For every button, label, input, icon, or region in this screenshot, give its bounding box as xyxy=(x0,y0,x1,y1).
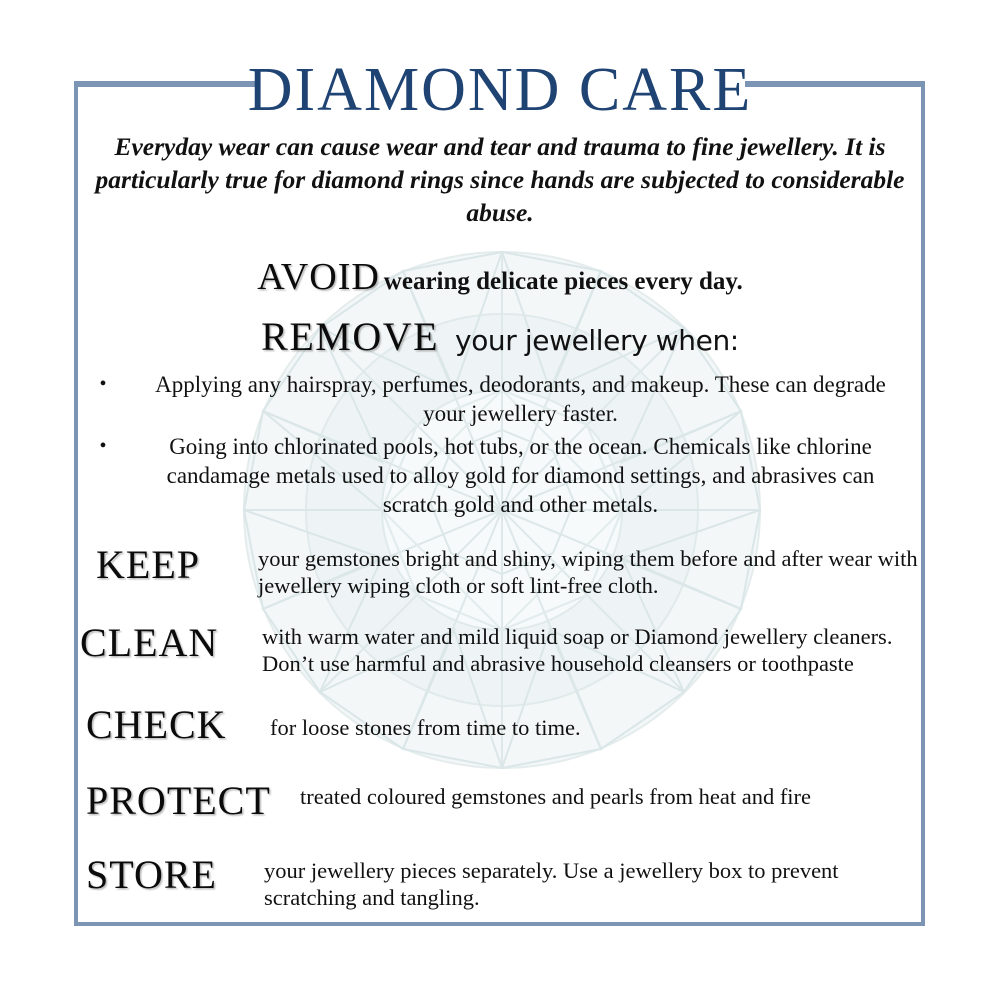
content-area: Everyday wear can cause wear and tear an… xyxy=(78,128,922,911)
keep-section: KEEP your gemstones bright and shiny, wi… xyxy=(78,543,922,599)
intro-paragraph: Everyday wear can cause wear and tear an… xyxy=(78,130,922,229)
frame-bottom-edge xyxy=(74,922,925,926)
store-text: your jewellery pieces separately. Use a … xyxy=(264,853,922,911)
list-item-text: Applying any hairspray, perfumes, deodor… xyxy=(141,370,901,428)
store-keyword: STORE xyxy=(86,853,254,895)
check-keyword: CHECK xyxy=(86,703,258,745)
bullet-icon: • xyxy=(99,432,106,461)
clean-text: with warm water and mild liquid soap or … xyxy=(262,621,922,677)
protect-text: treated coloured gemstones and pearls fr… xyxy=(300,779,922,810)
protect-keyword: PROTECT xyxy=(86,779,292,821)
clean-keyword: CLEAN xyxy=(80,621,262,663)
clean-section: CLEAN with warm water and mild liquid so… xyxy=(78,621,922,677)
avoid-text: wearing delicate pieces every day. xyxy=(384,268,743,295)
page-title: DIAMOND CARE xyxy=(0,58,1000,122)
check-text: for loose stones from time to time. xyxy=(270,703,922,741)
list-item: • Applying any hairspray, perfumes, deod… xyxy=(78,370,922,428)
remove-section: REMOVE your jewellery when: xyxy=(78,313,922,360)
avoid-section: AVOID wearing delicate pieces every day. xyxy=(78,255,922,299)
bullet-icon: • xyxy=(99,370,106,399)
keep-keyword: KEEP xyxy=(96,543,254,585)
store-section: STORE your jewellery pieces separately. … xyxy=(78,853,922,911)
avoid-keyword: AVOID xyxy=(257,256,380,298)
check-section: CHECK for loose stones from time to time… xyxy=(78,703,922,745)
protect-section: PROTECT treated coloured gemstones and p… xyxy=(78,779,922,821)
list-item: • Going into chlorinated pools, hot tubs… xyxy=(78,432,922,519)
remove-text: your jewellery when: xyxy=(455,324,739,357)
remove-bullet-list: • Applying any hairspray, perfumes, deod… xyxy=(78,370,922,519)
list-item-text: Going into chlorinated pools, hot tubs, … xyxy=(141,432,901,519)
remove-keyword: REMOVE xyxy=(261,314,439,359)
keep-text: your gemstones bright and shiny, wiping … xyxy=(258,543,922,599)
